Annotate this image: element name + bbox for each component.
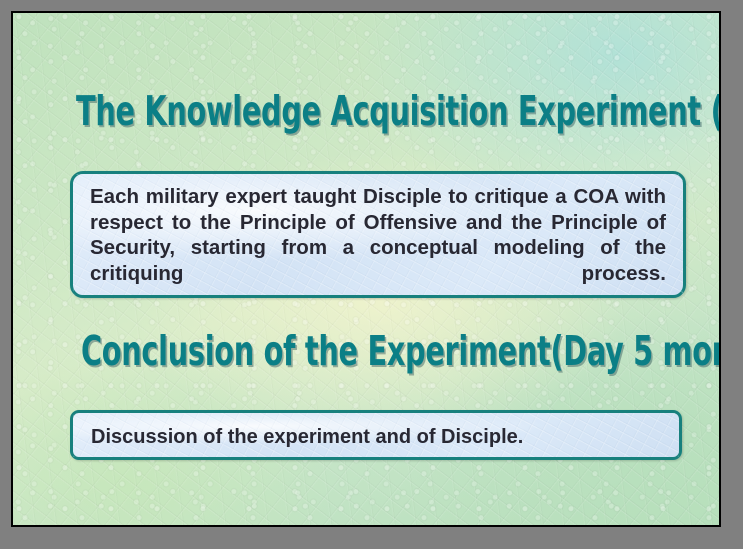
text-box-experiment-description: Each military expert taught Disciple to …: [70, 171, 686, 298]
slide-canvas: The Knowledge Acquisition Experiment (Da…: [11, 11, 721, 527]
slide-subtitle-conclusion: Conclusion of the Experiment(Day 5 morni…: [81, 331, 721, 372]
conclusion-description-text: Discussion of the experiment and of Disc…: [73, 413, 679, 449]
slide-title-knowledge-acquisition: The Knowledge Acquisition Experiment (Da…: [76, 91, 721, 132]
text-box-conclusion-description: Discussion of the experiment and of Disc…: [70, 410, 682, 460]
experiment-description-text: Each military expert taught Disciple to …: [73, 174, 683, 312]
slide-viewer: The Knowledge Acquisition Experiment (Da…: [0, 0, 743, 549]
